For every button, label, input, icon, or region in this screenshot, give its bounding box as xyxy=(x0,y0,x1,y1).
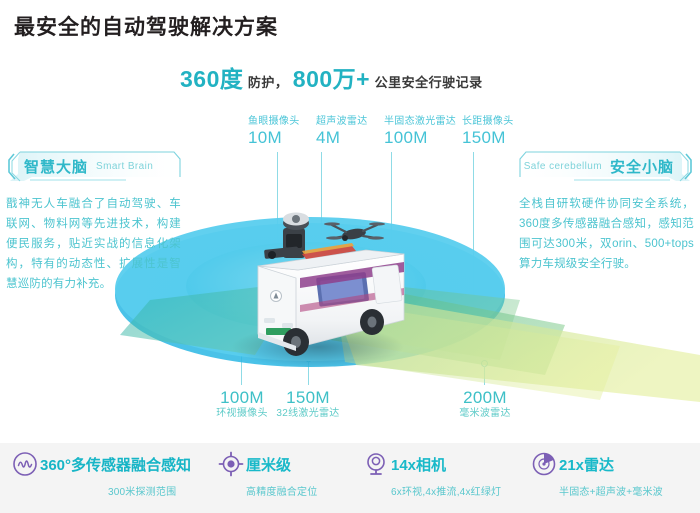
panel-right-body: 全栈自研软硬件协同安全系统，360度多传感器融合感知，感知范围可达300米，双o… xyxy=(519,194,694,274)
badge-left-title-en: Smart Brain xyxy=(96,161,153,172)
radar-sweep-icon xyxy=(531,451,557,477)
feature-head: 14x相机 xyxy=(363,451,501,477)
badge-left-title-cn: 智慧大脑 xyxy=(24,156,88,177)
feature-cameras[interactable]: 14x相机 6x环视,4x推流,4x红绿灯 xyxy=(363,451,501,498)
badge-safe-cerebellum: Safe cerebellum 安全小脑 xyxy=(519,150,694,182)
top-callout-name: 鱼眼摄像头 xyxy=(248,116,300,128)
badge-smart-brain: 智慧大脑 Smart Brain xyxy=(6,150,181,182)
subtitle-protect: 防护， xyxy=(248,75,289,90)
crosshair-target-icon xyxy=(218,451,244,477)
panel-safe-cerebellum: Safe cerebellum 安全小脑 全栈自研软硬件协同安全系统，360度多… xyxy=(519,150,694,274)
drone-camera-gimbal xyxy=(342,235,348,241)
vehicle-rear-lamp-right xyxy=(282,323,293,328)
feature-radars[interactable]: 21x雷达 半固态+超声波+毫米波 xyxy=(531,451,663,498)
feature-sub: 300米探测范围 xyxy=(108,483,191,498)
feature-sub: 高精度融合定位 xyxy=(246,483,317,498)
top-callout-ultrasonic: 超声波雷达 4M xyxy=(316,116,368,148)
feature-centimeter[interactable]: 厘米级 高精度融合定位 xyxy=(218,451,317,498)
subtitle-km-label: 公里安全行驶记录 xyxy=(375,75,483,90)
feature-sub: 6x环视,4x推流,4x红绿灯 xyxy=(391,483,501,498)
top-callout-longrange-camera: 长距摄像头 150M xyxy=(462,116,514,148)
side-camera-lens xyxy=(268,251,276,259)
subtitle-km: 800万+ xyxy=(293,66,370,92)
feature-head: 360°多传感器融合感知 xyxy=(12,451,191,477)
feature-strip: 360°多传感器融合感知 300米探测范围 厘米级 高精度融合定位 xyxy=(0,443,700,513)
vehicle-wheel-front-hub xyxy=(368,317,377,328)
page-title: 最安全的自动驾驶解决方案 xyxy=(14,11,278,41)
badge-right-title-cn: 安全小脑 xyxy=(610,156,674,177)
camera-icon xyxy=(363,451,389,477)
drone-rotor-fl xyxy=(324,222,340,225)
top-callout-value: 100M xyxy=(384,128,456,148)
panel-left-body: 戬神无人车融合了自动驾驶、车联网、物料网等先进技术，构建便民服务，贴近实战的信息… xyxy=(6,194,181,294)
top-callout-value: 10M xyxy=(248,128,300,148)
top-callout-name: 超声波雷达 xyxy=(316,116,368,128)
subtitle: 360度 防护， 800万+ 公里安全行驶记录 xyxy=(180,68,483,91)
feature-head: 21x雷达 xyxy=(531,451,663,477)
top-callout-semisolid-lidar: 半固态激光雷达 100M xyxy=(384,116,456,148)
subtitle-360: 360度 xyxy=(180,66,243,92)
feature-title: 14x相机 xyxy=(391,454,446,475)
infographic-root: 最安全的自动驾驶解决方案 360度 防护， 800万+ 公里安全行驶记录 鱼眼摄… xyxy=(0,0,700,513)
feature-title: 360°多传感器融合感知 xyxy=(40,454,191,475)
badge-left-text: 智慧大脑 Smart Brain xyxy=(24,150,153,182)
top-callout-name: 长距摄像头 xyxy=(462,116,514,128)
feature-sub: 半固态+超声波+毫米波 xyxy=(559,483,663,498)
drone-rotor-br xyxy=(368,236,384,239)
drone-rotor-bl xyxy=(369,222,385,225)
feature-head: 厘米级 xyxy=(218,451,317,477)
drone-rotor-fr xyxy=(326,236,342,239)
top-callout-name: 半固态激光雷达 xyxy=(384,116,456,128)
feature-360-fusion[interactable]: 360°多传感器融合感知 300米探测范围 xyxy=(12,451,191,498)
top-callout-fisheye: 鱼眼摄像头 10M xyxy=(248,116,300,148)
panel-smart-brain: 智慧大脑 Smart Brain 戬神无人车融合了自动驾驶、车联网、物料网等先进… xyxy=(6,150,181,294)
top-callout-value: 4M xyxy=(316,128,368,148)
feature-title: 21x雷达 xyxy=(559,454,614,475)
vehicle-rear-lamp-left xyxy=(264,318,275,323)
sensor-mast-panel xyxy=(286,234,302,248)
badge-right-text: Safe cerebellum 安全小脑 xyxy=(524,150,674,182)
vehicle-side-door xyxy=(372,265,402,304)
lidar-dome-lens xyxy=(292,215,300,223)
waveform-circle-icon xyxy=(12,451,38,477)
top-callout-value: 150M xyxy=(462,128,514,148)
badge-right-title-en: Safe cerebellum xyxy=(524,161,602,172)
feature-title: 厘米级 xyxy=(246,454,291,475)
